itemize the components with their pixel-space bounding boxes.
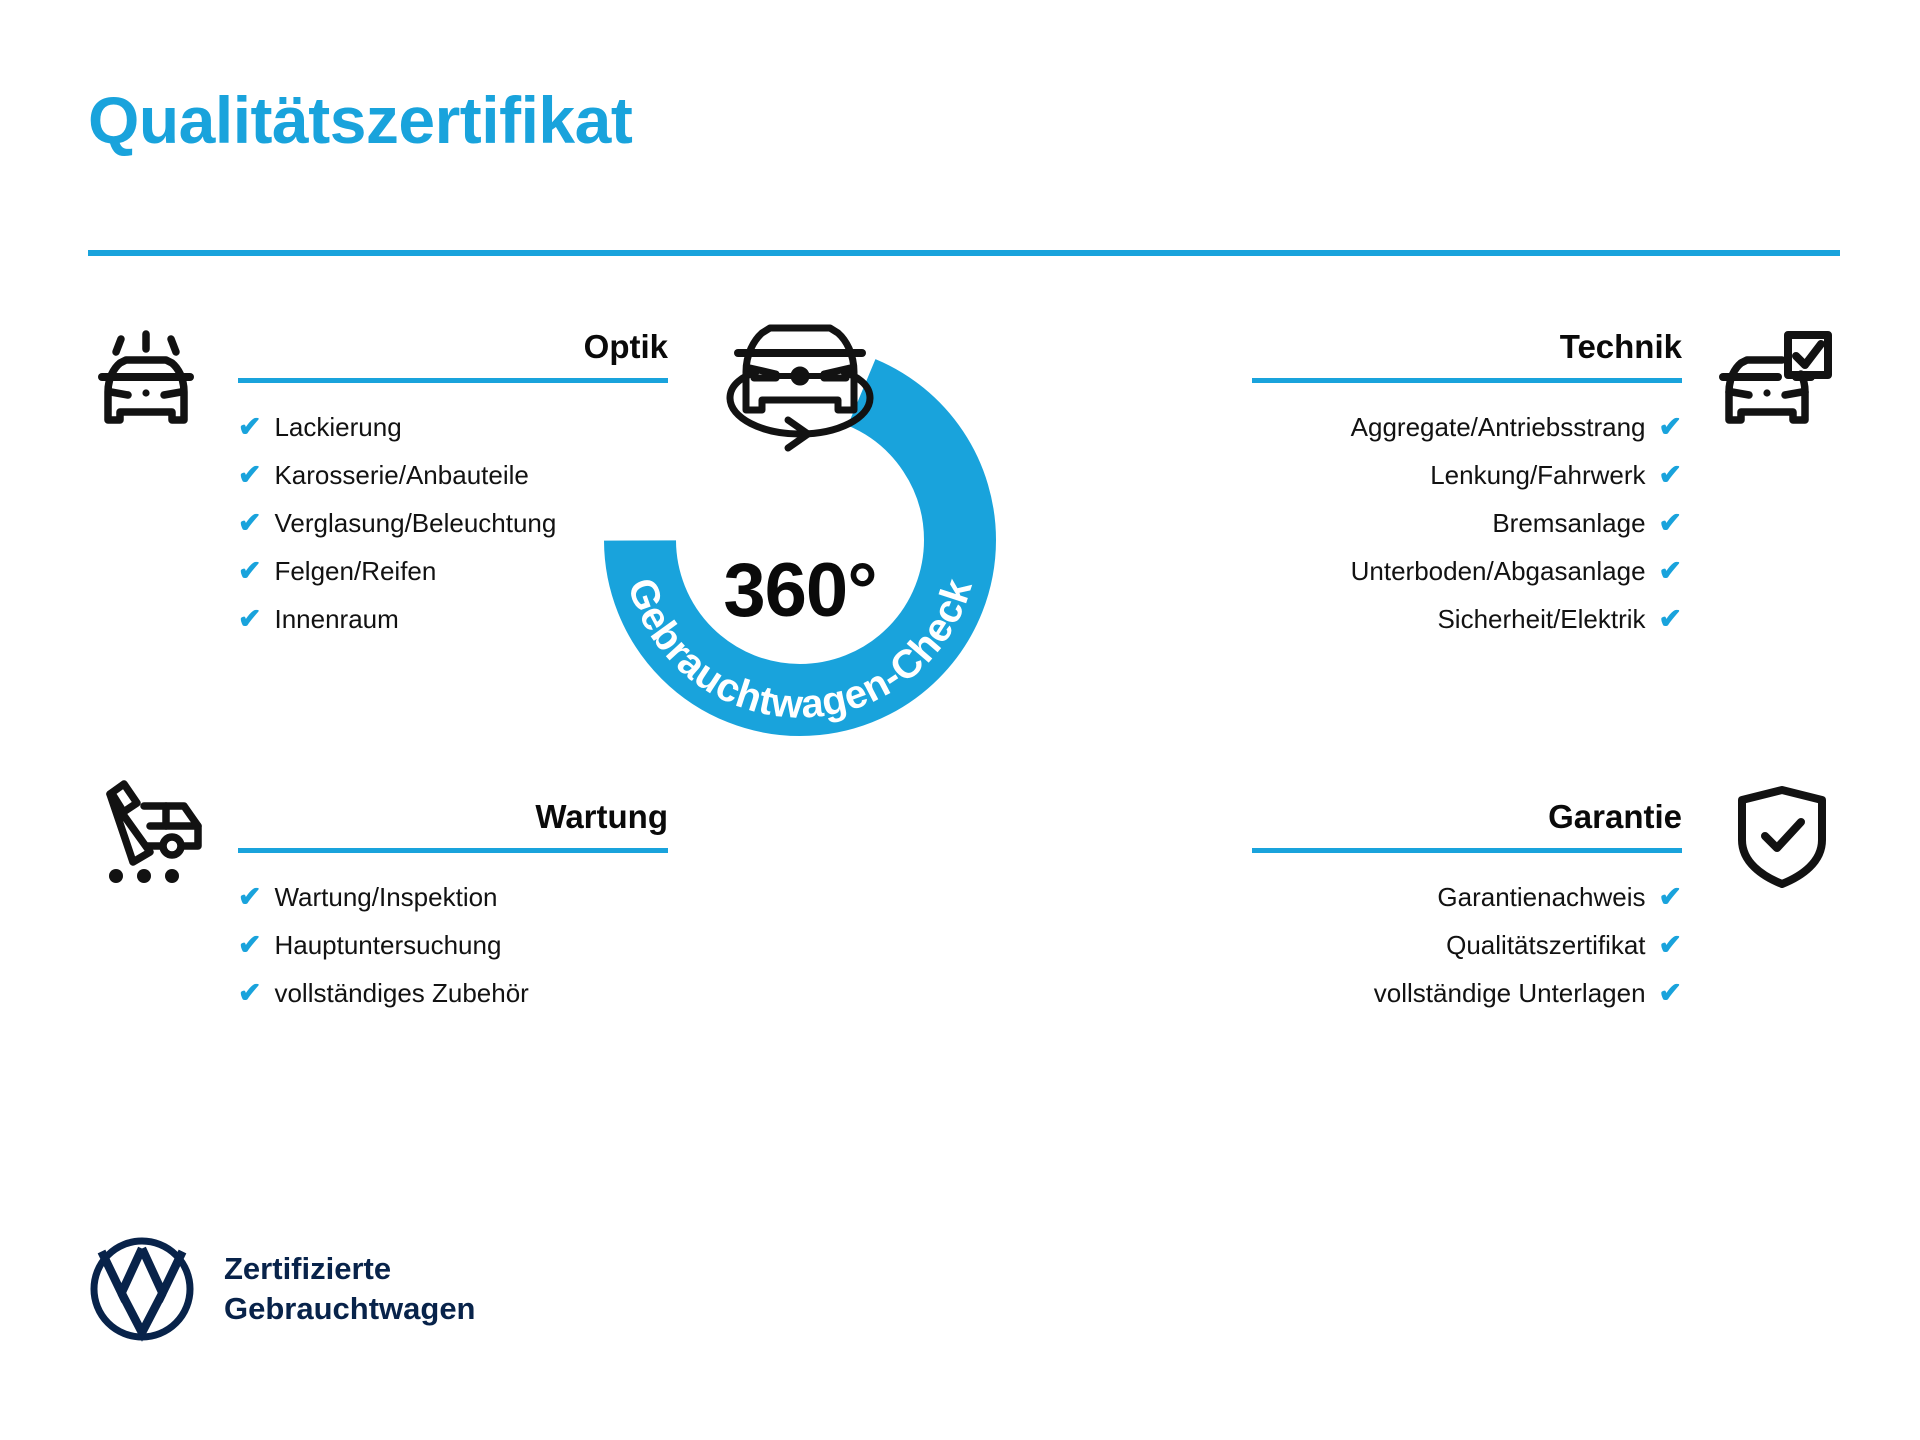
- shield-check-icon: [1732, 784, 1832, 895]
- check-icon: ✔: [238, 883, 261, 911]
- list-item: ✔Hauptuntersuchung: [238, 931, 668, 959]
- list-item-label: Aggregate/Antriebsstrang: [1351, 414, 1646, 440]
- section-divider-garantie: [1252, 848, 1682, 853]
- section-divider-wartung: [238, 848, 668, 853]
- check-icon: ✔: [1659, 605, 1682, 633]
- car-checklist-icon: [1716, 330, 1832, 445]
- list-item: Lenkung/Fahrwerk✔: [1252, 461, 1682, 489]
- checklist-garantie: Garantienachweis✔ Qualitätszertifikat✔ v…: [1252, 883, 1682, 1007]
- car-service-pen-icon: [88, 780, 204, 891]
- check-icon: ✔: [1659, 461, 1682, 489]
- check-icon: ✔: [1659, 413, 1682, 441]
- check-icon: ✔: [1659, 979, 1682, 1007]
- check-icon: ✔: [1659, 557, 1682, 585]
- checklist-wartung: ✔Wartung/Inspektion ✔Hauptuntersuchung ✔…: [238, 883, 668, 1007]
- list-item: vollständige Unterlagen✔: [1252, 979, 1682, 1007]
- list-item-label: Wartung/Inspektion: [274, 884, 497, 910]
- list-item-label: Garantienachweis: [1437, 884, 1645, 910]
- check-icon: ✔: [1659, 509, 1682, 537]
- page-title: Qualitätszertifikat: [88, 86, 632, 155]
- list-item: Sicherheit/Elektrik✔: [1252, 605, 1682, 633]
- list-item-label: vollständige Unterlagen: [1374, 980, 1646, 1006]
- section-title-wartung: Wartung: [238, 800, 668, 833]
- checklist-technik: Aggregate/Antriebsstrang✔ Lenkung/Fahrwe…: [1252, 413, 1682, 633]
- list-item-label: Unterboden/Abgasanlage: [1351, 558, 1646, 584]
- check-icon: ✔: [1659, 883, 1682, 911]
- certificate-page: Qualitätszertifikat Optik: [0, 0, 1920, 1440]
- car-rotate-360-icon: [684, 306, 916, 466]
- check-icon: ✔: [238, 605, 261, 633]
- list-item-label: Sicherheit/Elektrik: [1437, 606, 1645, 632]
- header-divider: [88, 250, 1840, 256]
- check-icon: ✔: [1659, 931, 1682, 959]
- list-item-label: Innenraum: [274, 606, 398, 632]
- list-item: Unterboden/Abgasanlage✔: [1252, 557, 1682, 585]
- badge-value: 360°: [560, 553, 1040, 629]
- list-item-label: Lackierung: [274, 414, 401, 440]
- list-item: ✔Wartung/Inspektion: [238, 883, 668, 911]
- list-item-label: Qualitätszertifikat: [1446, 932, 1645, 958]
- check-icon: ✔: [238, 413, 261, 441]
- list-item: Aggregate/Antriebsstrang✔: [1252, 413, 1682, 441]
- car-polish-icon: [88, 330, 204, 445]
- list-item-label: Hauptuntersuchung: [274, 932, 501, 958]
- list-item-label: Verglasung/Beleuchtung: [274, 510, 556, 536]
- list-item-label: Bremsanlage: [1492, 510, 1645, 536]
- brand-label: Zertifizierte Gebrauchtwagen: [224, 1249, 476, 1330]
- list-item-label: Lenkung/Fahrwerk: [1430, 462, 1645, 488]
- check-icon: ✔: [238, 509, 261, 537]
- list-item-label: Felgen/Reifen: [274, 558, 436, 584]
- badge-360-check: Gebrauchtwagen-Check 360°: [560, 300, 1040, 780]
- volkswagen-logo-icon: [88, 1235, 196, 1343]
- list-item: Garantienachweis✔: [1252, 883, 1682, 911]
- check-icon: ✔: [238, 979, 261, 1007]
- list-item: Bremsanlage✔: [1252, 509, 1682, 537]
- list-item: ✔vollständiges Zubehör: [238, 979, 668, 1007]
- check-icon: ✔: [238, 461, 261, 489]
- section-divider-technik: [1252, 378, 1682, 383]
- check-icon: ✔: [238, 557, 261, 585]
- brand-footer: Zertifizierte Gebrauchtwagen: [88, 1235, 476, 1343]
- list-item: Qualitätszertifikat✔: [1252, 931, 1682, 959]
- check-icon: ✔: [238, 931, 261, 959]
- list-item-label: vollständiges Zubehör: [274, 980, 528, 1006]
- list-item-label: Karosserie/Anbauteile: [274, 462, 528, 488]
- section-title-technik: Technik: [1252, 330, 1682, 363]
- section-title-garantie: Garantie: [1252, 800, 1682, 833]
